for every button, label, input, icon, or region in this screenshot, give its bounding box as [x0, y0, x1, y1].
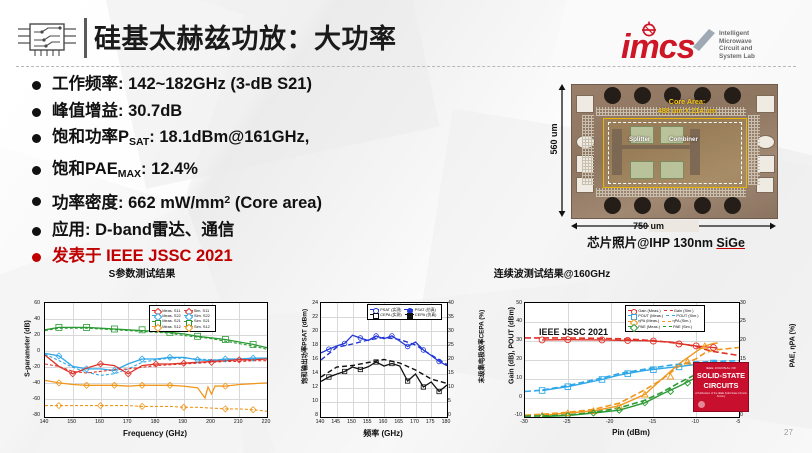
- bullet-label: 应用: [52, 221, 85, 239]
- psat-ytick-l: 8: [304, 412, 318, 418]
- sparam-xtick: 220: [256, 419, 276, 425]
- psat-ytick-l: 24: [304, 300, 318, 306]
- bullet-item: 应用: D-band雷达、通信: [32, 220, 532, 240]
- bullet-label: 工作频率: [52, 75, 118, 93]
- core-area-label: Core Area: 488 um X 214 um: [627, 97, 747, 115]
- cw-ylabel-right: PAE, ηPA (%): [790, 294, 797, 398]
- legend-label: CEPA (仿真): [415, 312, 437, 317]
- cw-ylabel-left: Gain (dB), POUT (dBm): [509, 294, 516, 398]
- logo-tagline-line: Circuit and: [719, 45, 799, 53]
- sparam-xtick: 200: [201, 419, 221, 425]
- bullet-label: 饱和功率P: [52, 128, 129, 146]
- psat-ytick-r: 25: [448, 342, 462, 348]
- psat-ytick-l: 10: [304, 398, 318, 404]
- sparam-xtick: 140: [34, 419, 54, 425]
- logo-tagline-line: Microwave: [719, 38, 799, 46]
- psat-ytick-r: 15: [448, 370, 462, 376]
- bullet-value: 12.4%: [151, 160, 198, 178]
- bullet-value: 142~182GHz (3-dB S21): [128, 75, 312, 93]
- bullet-item: 功率密度: 662 mW/mm2 (Core area): [32, 190, 532, 213]
- bullet-label: 饱和PAE: [52, 160, 118, 178]
- sparam-ytick: 40: [22, 316, 40, 322]
- bullet-text: 饱和功率PSAT: 18.1dBm@161GHz,: [52, 127, 309, 152]
- psat-series-svg: [321, 303, 447, 417]
- core-area-line1: Core Area:: [627, 97, 747, 106]
- legend-row: PAE (Meas.) PAE (Sim.): [628, 324, 702, 329]
- cw-ytick-r: 0: [740, 412, 756, 418]
- splitter-label: Splitter: [629, 136, 650, 143]
- psat-chart: 饱和输出功率PSAT (dBm) 末级集电极效率CEPA (%) 24 22 2…: [288, 280, 483, 445]
- cw-xtick: -30: [514, 419, 534, 425]
- logo-antenna-icon: [640, 21, 658, 39]
- sparam-xtick: 190: [173, 419, 193, 425]
- bullet-dot-icon: [32, 81, 41, 90]
- cw-xtick: -10: [685, 419, 705, 425]
- psat-ytick-l: 18: [304, 342, 318, 348]
- cw-ytick-l: 50: [506, 300, 522, 306]
- cw-ytick-l: 20: [506, 356, 522, 362]
- title-divider: [84, 18, 87, 58]
- sparam-chart: S-parameter (dB) 60 40 20 0 -20 -40 -60 …: [14, 280, 276, 445]
- bullet-subscript: MAX: [118, 168, 141, 180]
- sparam-xtick: 160: [90, 419, 110, 425]
- bullet-text: 工作频率: 142~182GHz (3-dB S21): [52, 74, 312, 94]
- sparam-xtick: 170: [117, 419, 137, 425]
- legend-label: Sim. S12: [194, 324, 210, 329]
- psat-ytick-l: 12: [304, 384, 318, 390]
- cw-xlabel: Pin (dBm): [524, 428, 738, 437]
- cw-ytick-l: 10: [506, 375, 522, 381]
- bullet-list: 工作频率: 142~182GHz (3-dB S21) 峰值增益: 30.7dB…: [32, 74, 532, 273]
- logo-tagline-line: System Lab: [719, 53, 799, 61]
- cw-xtick: -25: [557, 419, 577, 425]
- cw-ytick-l: 0: [506, 394, 522, 400]
- logo-tagline-line: Intelligent: [719, 30, 799, 38]
- sparam-plot-area: Meas. S11 Sim. S11 Meas. S22 Sim. S22 Me…: [44, 302, 268, 418]
- bullet-tail: (Core area): [230, 194, 322, 212]
- sparam-ytick: 60: [22, 300, 40, 306]
- bullet-dot-icon: [32, 166, 41, 175]
- bullet-text: 饱和PAEMAX: 12.4%: [52, 159, 198, 184]
- sparam-ytick: -40: [22, 380, 40, 386]
- bullet-item: 峰值增益: 30.7dB: [32, 101, 532, 121]
- legend-label: Meas. S12: [162, 324, 181, 329]
- cw-ytick-r: 20: [740, 337, 756, 343]
- cw-ytick-l: -10: [504, 412, 522, 418]
- sparam-legend: Meas. S11 Sim. S11 Meas. S22 Sim. S22 Me…: [149, 305, 216, 332]
- page-number: 27: [784, 428, 793, 437]
- psat-ylabel-right-text: 末级集电极效率CEPA (%): [479, 310, 486, 384]
- psat-legend: PSAT (实测) PSAT (仿真) CEPA (实测) CEPA (仿真): [367, 304, 442, 320]
- psat-ytick-r: 20: [448, 356, 462, 362]
- bullet-item-highlight: 发表于 IEEE JSSC 2021: [32, 246, 532, 266]
- psat-ytick-r: 0: [448, 412, 462, 418]
- cw-ytick-r: 30: [740, 300, 756, 306]
- slide-canvas: 硅基太赫兹功放：大功率 imcs Intelligent Microwave C…: [0, 0, 812, 453]
- bullet-text: 峰值增益: 30.7dB: [52, 101, 182, 121]
- bullet-item: 饱和功率PSAT: 18.1dBm@161GHz,: [32, 127, 532, 152]
- sparam-ytick: -20: [22, 364, 40, 370]
- bullet-subscript: SAT: [129, 136, 149, 148]
- sparam-xtick: 180: [145, 419, 165, 425]
- psat-ytick-l: 20: [304, 328, 318, 334]
- legend-label: PAE (Meas.): [638, 324, 660, 329]
- legend-label: CEPA (实测): [380, 312, 402, 317]
- bullet-dot-icon: [32, 197, 41, 206]
- header-divider: [16, 66, 796, 67]
- bullet-item: 工作频率: 142~182GHz (3-dB S21): [32, 74, 532, 94]
- legend-label: PAE (Sim.): [673, 324, 692, 329]
- psat-ylabel-right: 末级集电极效率CEPA (%): [477, 293, 486, 401]
- bullet-value: 18.1dBm@161GHz,: [159, 128, 309, 146]
- psat-ytick-l: 16: [304, 356, 318, 362]
- cw-xtick: -20: [600, 419, 620, 425]
- bullet-dot-icon: [32, 227, 41, 236]
- legend-row: CEPA (实测) CEPA (仿真): [370, 312, 439, 317]
- psat-ytick-r: 40: [448, 300, 462, 306]
- chip-die-image: Core Area: 488 um X 214 um Splitter Comb…: [571, 84, 778, 219]
- logo-tagline: Intelligent Microwave Circuit and System…: [719, 30, 799, 60]
- bullet-item: 饱和PAEMAX: 12.4%: [32, 159, 532, 184]
- cw-chart-title: 连续波测试结果@160GHz: [452, 265, 652, 280]
- page-title: 硅基太赫兹功放：大功率: [94, 17, 397, 56]
- core-area-line2: 488 um X 214 um: [627, 106, 747, 115]
- sparam-ytick: 0: [22, 348, 40, 354]
- bullet-text: 应用: D-band雷达、通信: [52, 220, 234, 240]
- cw-ytick-l: 30: [506, 337, 522, 343]
- chip-caption-prefix: 芯片照片@IHP 130nm: [587, 236, 716, 250]
- logo-swoosh-icon: [693, 29, 715, 51]
- bullet-text: 发表于 IEEE JSSC 2021: [52, 246, 233, 266]
- bullet-value: 662 mW/mm: [128, 194, 224, 212]
- cw-annotation: IEEE JSSC 2021: [539, 327, 608, 337]
- jssc-line1: IEEE JOURNAL OF: [694, 366, 748, 370]
- jssc-line3: CIRCUITS: [694, 381, 748, 390]
- bullet-value: D-band雷达、通信: [95, 221, 234, 239]
- psat-xlabel: 频率 (GHz): [320, 428, 446, 439]
- chip-photo-block: 560 um: [546, 82, 786, 242]
- sparam-ytick: -60: [22, 396, 40, 402]
- cw-xtick: -5: [728, 419, 748, 425]
- psat-ytick-l: 22: [304, 314, 318, 320]
- combiner-label: Combiner: [669, 136, 698, 143]
- chip-height-label: 560 um: [549, 118, 559, 160]
- sparam-xtick: 150: [62, 419, 82, 425]
- bullet-dot-icon: [32, 253, 41, 262]
- bullet-dot-icon: [32, 108, 41, 117]
- bullet-value: 30.7dB: [128, 102, 182, 120]
- psat-xtick: 180: [436, 419, 456, 425]
- bullet-text: 功率密度: 662 mW/mm2 (Core area): [52, 190, 322, 213]
- sparam-xlabel: Frequency (GHz): [44, 429, 266, 438]
- cw-ytick-l: 40: [506, 318, 522, 324]
- bullet-label: 峰值增益: [52, 102, 118, 120]
- bullet-dot-icon: [32, 134, 41, 143]
- legend-row: Meas. S12 Sim. S12: [152, 324, 213, 329]
- psat-plot-area: PSAT (实测) PSAT (仿真) CEPA (实测) CEPA (仿真): [320, 302, 448, 418]
- chip-width-label: 750 um: [546, 221, 751, 231]
- chip-caption-process: SiGe: [716, 236, 745, 250]
- sparam-xtick: 210: [228, 419, 248, 425]
- sparam-ytick: -80: [22, 412, 40, 418]
- jssc-line4: A Publication of the IEEE Solid-State Ci…: [694, 392, 748, 398]
- psat-ytick-r: 5: [448, 398, 462, 404]
- sparam-ytick: 20: [22, 332, 40, 338]
- ieee-logo-icon: [698, 401, 705, 408]
- ic-chip-icon: [16, 18, 78, 58]
- sparam-chart-title: S参数测试结果: [62, 265, 222, 280]
- jssc-cover-badge: IEEE JOURNAL OF SOLID-STATE CIRCUITS A P…: [693, 362, 749, 412]
- bullet-label: 功率密度: [52, 194, 118, 212]
- slide-header: 硅基太赫兹功放：大功率 imcs Intelligent Microwave C…: [0, 12, 812, 64]
- psat-ytick-r: 30: [448, 328, 462, 334]
- psat-ytick-r: 10: [448, 384, 462, 390]
- cw-xtick: -15: [642, 419, 662, 425]
- cw-legend: Gain (Meas.) Gain (Sim.) POUT (Meas.) PO…: [625, 305, 705, 332]
- psat-ytick-l: 14: [304, 370, 318, 376]
- cw-chart: Gain (dB), POUT (dBm) PAE, ηPA (%) 50 40…: [492, 280, 802, 445]
- chip-photo-caption: 芯片照片@IHP 130nm SiGe: [546, 232, 786, 251]
- psat-ytick-r: 35: [448, 314, 462, 320]
- cw-ytick-r: 25: [740, 318, 756, 324]
- jssc-line2: SOLID-STATE: [694, 371, 748, 380]
